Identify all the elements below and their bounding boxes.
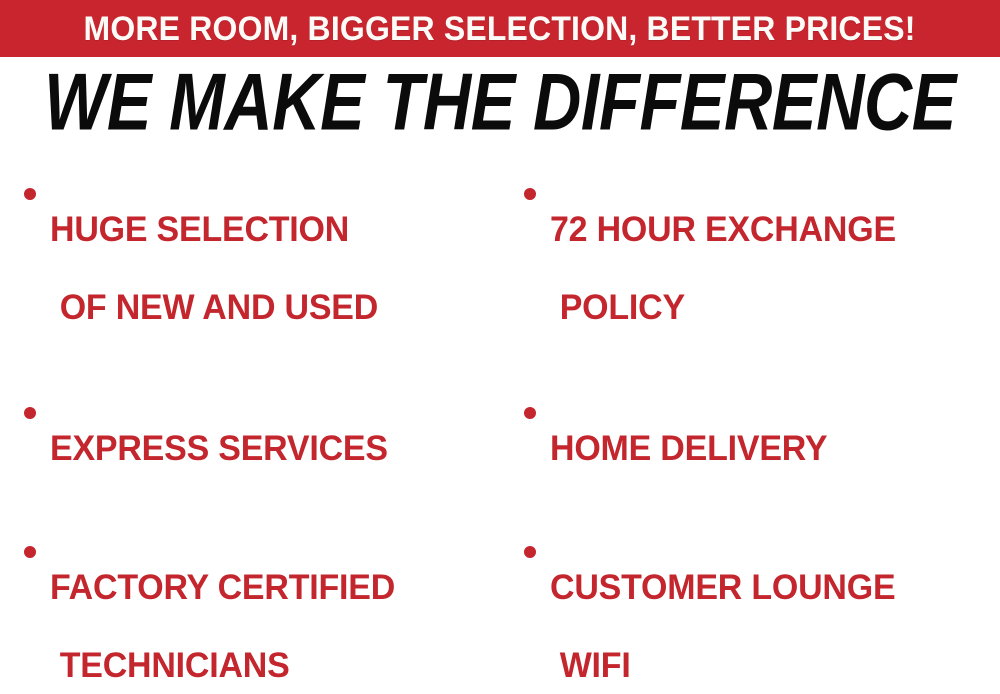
list-item-text: FACTORY CERTIFIED TECHNICIANS <box>50 529 487 694</box>
list-item: HUGE SELECTION OF NEW AND USED <box>14 171 500 366</box>
benefits-column-left: HUGE SELECTION OF NEW AND USED EXPRESS S… <box>14 155 500 694</box>
list-item-line1: HUGE SELECTION <box>50 210 487 249</box>
bullet-dot-icon <box>524 407 536 419</box>
list-item-line1: HOME DELIVERY <box>550 429 987 468</box>
page-title: WE MAKE THE DIFFERENCE <box>44 62 956 145</box>
bullet-dot-icon <box>24 546 36 558</box>
list-item-text: HUGE SELECTION OF NEW AND USED <box>50 171 487 366</box>
list-item: HOME DELIVERY <box>514 390 1000 507</box>
bullet-dot-icon <box>524 546 536 558</box>
list-item: 72 HOUR EXCHANGE POLICY <box>514 171 1000 366</box>
list-item-line1: CUSTOMER LOUNGE <box>550 568 987 607</box>
list-item-text: CUSTOMER LOUNGE WIFI <box>550 529 987 694</box>
list-item: EXPRESS SERVICES <box>14 390 500 507</box>
dealership-benefits-poster: MORE ROOM, BIGGER SELECTION, BETTER PRIC… <box>0 0 1000 694</box>
list-item-line1: EXPRESS SERVICES <box>50 429 487 468</box>
list-item-line1: FACTORY CERTIFIED <box>50 568 487 607</box>
list-item-line2: OF NEW AND USED <box>50 288 487 327</box>
list-item: CUSTOMER LOUNGE WIFI <box>514 529 1000 694</box>
headline-container: WE MAKE THE DIFFERENCE <box>0 64 1000 142</box>
benefits-column-right: 72 HOUR EXCHANGE POLICY HOME DELIVERY CU… <box>514 155 1000 694</box>
benefits-columns: HUGE SELECTION OF NEW AND USED EXPRESS S… <box>0 155 1000 694</box>
banner-headline: MORE ROOM, BIGGER SELECTION, BETTER PRIC… <box>84 12 916 46</box>
list-item-line2: WIFI <box>550 646 987 685</box>
list-item-line1: 72 HOUR EXCHANGE <box>550 210 987 249</box>
list-item-text: EXPRESS SERVICES <box>50 390 487 507</box>
list-item-text: HOME DELIVERY <box>550 390 987 507</box>
list-item-text: 72 HOUR EXCHANGE POLICY <box>550 171 987 366</box>
top-banner: MORE ROOM, BIGGER SELECTION, BETTER PRIC… <box>0 0 1000 57</box>
bullet-dot-icon <box>24 188 36 200</box>
list-item-line2: TECHNICIANS <box>50 646 487 685</box>
bullet-dot-icon <box>524 188 536 200</box>
bullet-dot-icon <box>24 407 36 419</box>
list-item-line2: POLICY <box>550 288 987 327</box>
list-item: FACTORY CERTIFIED TECHNICIANS <box>14 529 500 694</box>
